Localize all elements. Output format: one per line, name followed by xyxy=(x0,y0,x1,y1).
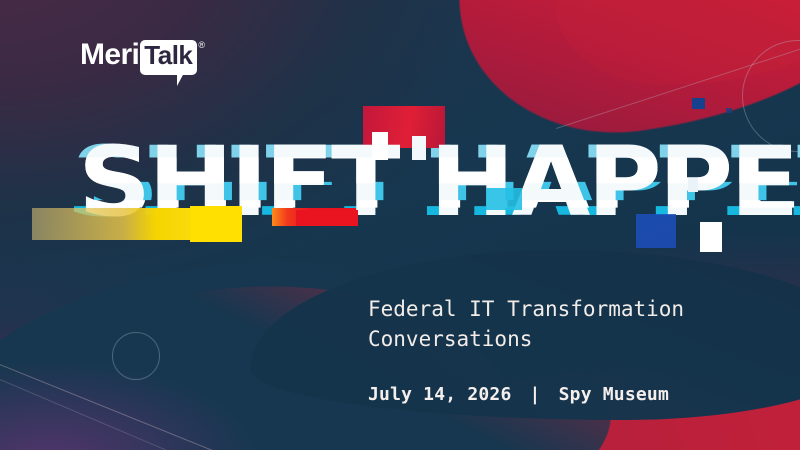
glitch-block-red-bar-2 xyxy=(296,210,358,226)
glitch-block-yellow-2 xyxy=(190,206,242,242)
circle-outline-small-icon xyxy=(112,332,160,380)
event-details: July 14, 2026 | Spy Museum xyxy=(368,384,669,405)
hero-subtitle: Federal IT Transformation Conversations xyxy=(368,294,768,354)
glitch-block-white-4 xyxy=(688,178,698,192)
meritalk-logo[interactable]: Meri Talk ® xyxy=(80,40,205,80)
glitch-block-white-3 xyxy=(700,222,722,252)
event-separator: | xyxy=(523,384,548,405)
speech-bubble-icon: Talk xyxy=(140,40,197,75)
glitch-block-blue xyxy=(636,214,676,248)
decor-blue-pixel-square xyxy=(692,98,705,109)
logo-text-talk: Talk xyxy=(144,40,192,70)
subtitle-line-2: Conversations xyxy=(368,324,768,354)
speech-bubble-tail-icon xyxy=(177,73,189,86)
registered-trademark-icon: ® xyxy=(198,40,205,51)
glitch-block-cyan xyxy=(486,188,522,210)
decor-blue-pixel-square-2 xyxy=(726,108,732,113)
hero-headline-glitch: SHIFT HAPPENS. SHIFT HAPPENS. SHIFT HAPP… xyxy=(0,118,800,270)
event-promo-banner: Meri Talk ® SHIFT HAPPENS. SHIFT HAPPENS… xyxy=(0,0,800,450)
subtitle-line-1: Federal IT Transformation xyxy=(368,294,768,324)
logo-text-meri: Meri xyxy=(80,40,139,70)
glitch-block-white-2 xyxy=(412,136,426,160)
event-venue: Spy Museum xyxy=(559,384,669,405)
glitch-block-white-1 xyxy=(372,132,388,160)
event-date: July 14, 2026 xyxy=(368,384,511,405)
